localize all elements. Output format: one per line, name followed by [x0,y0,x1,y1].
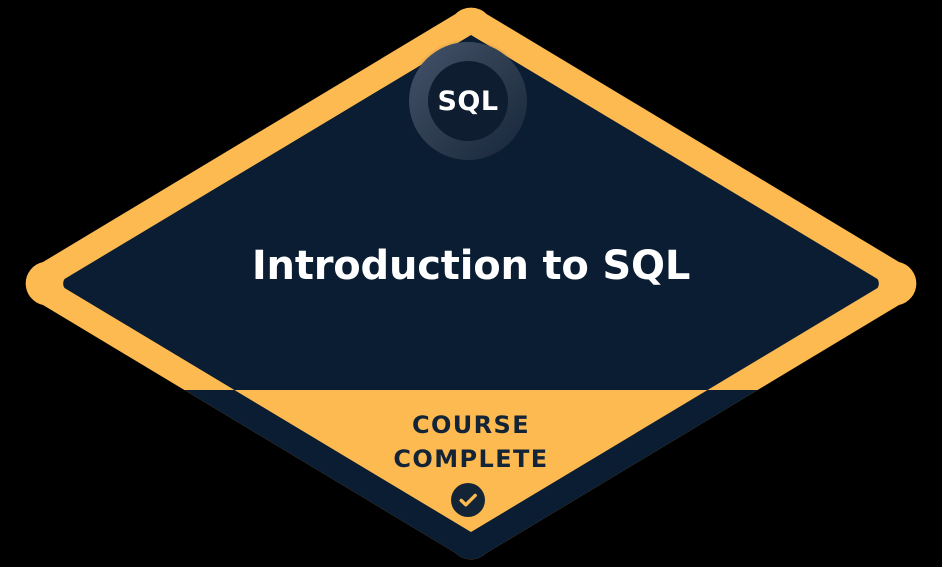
technology-chip-label: SQL [437,88,498,115]
technology-chip: SQL [408,41,528,161]
status-line-course: COURSE [0,408,942,442]
course-completion-badge: SQL Introduction to SQL COURSE COMPLETE [0,0,942,567]
check-circle-icon [451,483,485,517]
status-line-complete: COMPLETE [0,442,942,476]
completion-status: COURSE COMPLETE [0,408,942,476]
course-title: Introduction to SQL [0,243,942,289]
